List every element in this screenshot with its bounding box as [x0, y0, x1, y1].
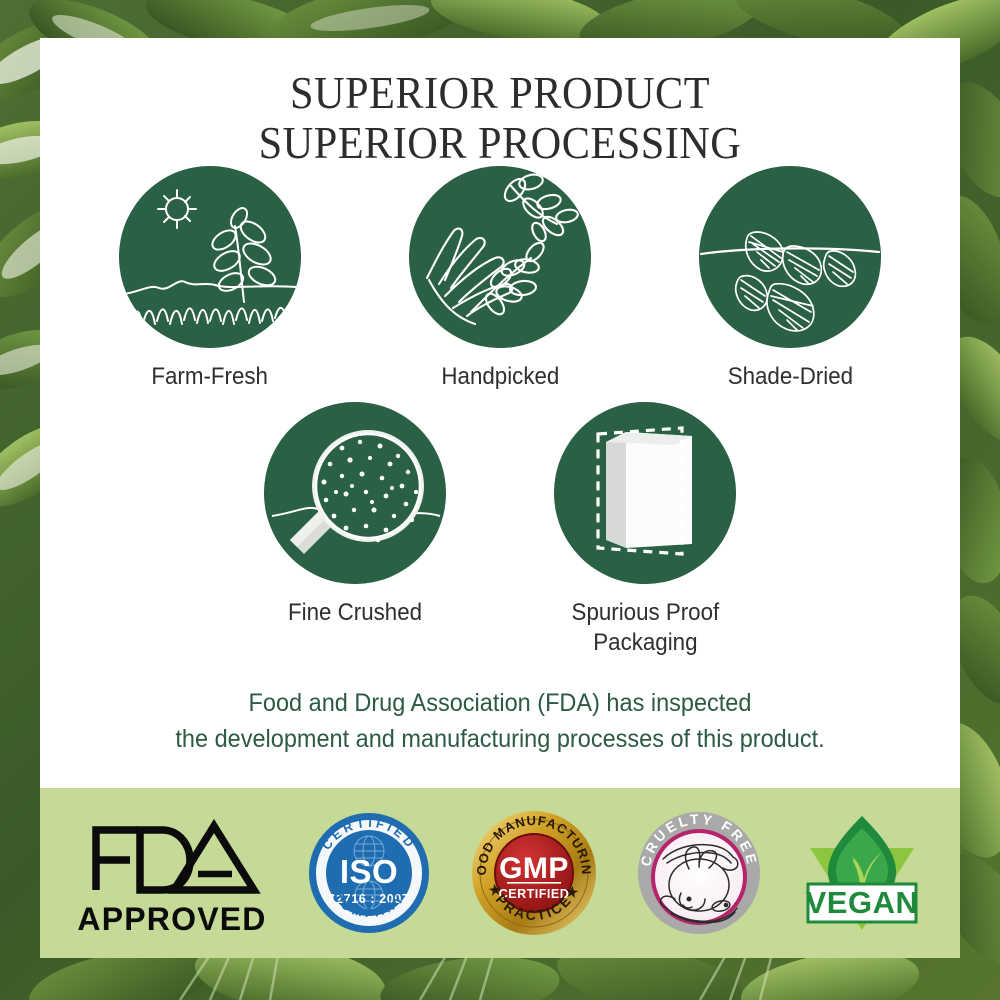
- statement-line-2: the development and manufacturing proces…: [68, 722, 933, 758]
- infographic-stage: SUPERIOR PRODUCT SUPERIOR PROCESSING: [0, 0, 1000, 1000]
- statement-line-1: Food and Drug Association (FDA) has insp…: [68, 686, 933, 722]
- sieve-powder-icon: [264, 402, 446, 584]
- fda-statement: Food and Drug Association (FDA) has insp…: [68, 686, 933, 757]
- fda-approved-badge: APPROVED: [78, 808, 266, 938]
- leaves-on-drying-line-icon: [699, 166, 881, 348]
- feature-row-2: Fine Crushed: [40, 402, 960, 658]
- hand-picking-leaves-icon: [409, 166, 591, 348]
- vegan-mark: VEGAN: [805, 885, 918, 920]
- feature-label: Shade-Dried: [727, 362, 852, 392]
- gmp-mark: GMP: [499, 852, 569, 885]
- iso-mark: ISO: [339, 853, 397, 890]
- feature-handpicked: Handpicked: [402, 166, 598, 392]
- feature-label: Fine Crushed: [288, 598, 422, 628]
- title-line-1: SUPERIOR PRODUCT: [77, 68, 923, 118]
- feature-row-1: Farm-Fresh: [40, 166, 960, 392]
- feature-label: Spurious Proof Packaging: [571, 598, 719, 658]
- feature-fine-crushed: Fine Crushed: [257, 402, 453, 658]
- sealed-box-icon: [554, 402, 736, 584]
- feature-shade-dried: Shade-Dried: [692, 166, 888, 392]
- page-title: SUPERIOR PRODUCT SUPERIOR PROCESSING: [40, 38, 960, 167]
- feature-label: Handpicked: [441, 362, 559, 392]
- certification-band: APPROVED: [40, 788, 960, 958]
- vegan-badge: VEGAN: [802, 812, 922, 934]
- gmp-certified-badge: GMP CERTIFIED GOOD MANUFACTURING ★PRACTI…: [471, 810, 597, 936]
- title-line-2: SUPERIOR PROCESSING: [77, 118, 923, 168]
- process-feature-grid: Farm-Fresh: [40, 166, 960, 657]
- fda-caption: APPROVED: [78, 901, 266, 937]
- cruelty-free-badge: CRUELTY FREE: [637, 811, 761, 935]
- product-card: SUPERIOR PRODUCT SUPERIOR PROCESSING: [40, 38, 960, 958]
- feature-label: Farm-Fresh: [152, 362, 269, 392]
- iso-certified-badge: ISO 22716 : 2007 CERTIFIED COMPANY: [307, 811, 431, 935]
- feature-spurious-proof-packaging: Spurious Proof Packaging: [547, 402, 743, 658]
- sun-field-plant-icon: [119, 166, 301, 348]
- feature-farm-fresh: Farm-Fresh: [112, 166, 308, 392]
